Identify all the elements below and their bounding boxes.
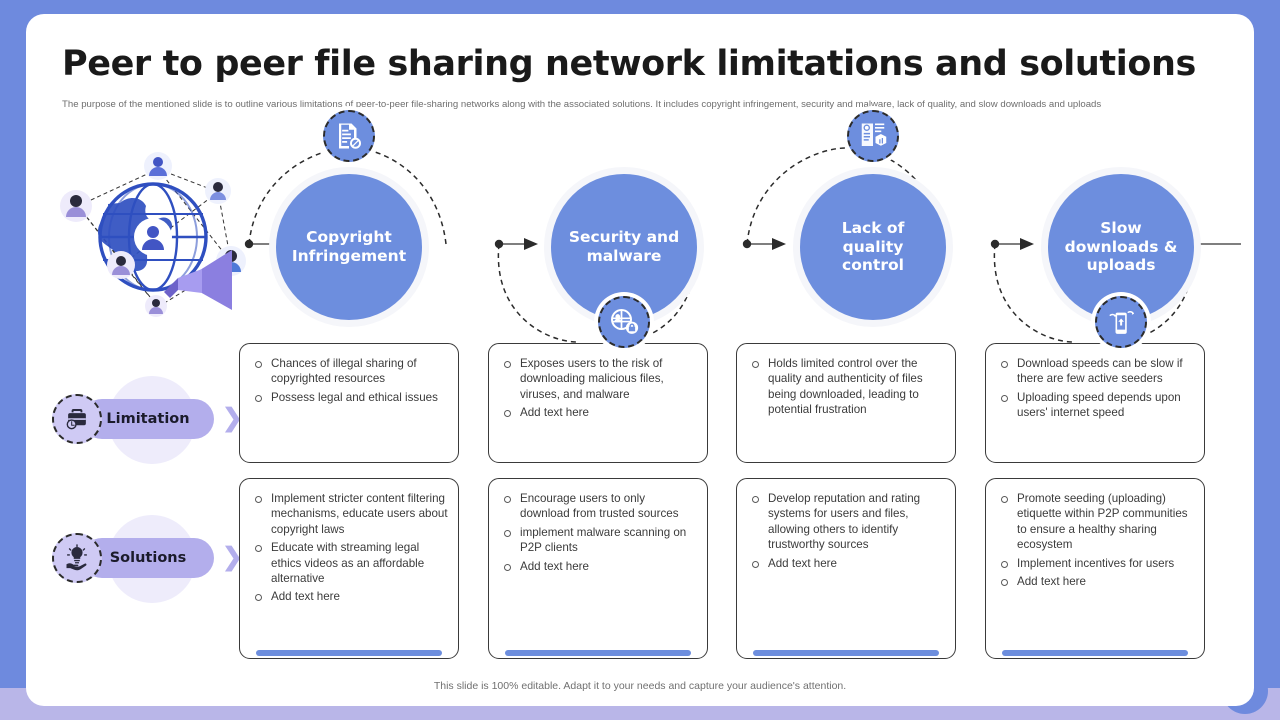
list-item: Add text here	[501, 559, 697, 574]
list-item: Add text here	[252, 589, 448, 604]
page-subtitle: The purpose of the mentioned slide is to…	[62, 98, 1237, 112]
node-lack-of-quality-control[interactable]: Lack of quality control	[800, 174, 946, 320]
solutions-card-4: Promote seeding (uploading) etiquette wi…	[985, 478, 1205, 659]
solutions-card-1: Implement stricter content filtering mec…	[239, 478, 459, 659]
list-item: Exposes users to the risk of downloading…	[501, 356, 697, 402]
list-item: implement malware scanning on P2P client…	[501, 525, 697, 556]
limitation-card-1: Chances of illegal sharing of copyrighte…	[239, 343, 459, 463]
list-item: Possess legal and ethical issues	[252, 390, 448, 405]
list-item: Add text here	[998, 574, 1194, 589]
card-accent-bar	[1002, 650, 1188, 656]
limitation-card-2: Exposes users to the risk of downloading…	[488, 343, 708, 463]
list-item: Educate with streaming legal ethics vide…	[252, 540, 448, 586]
node-copyright-infringement[interactable]: Copyright Infringement	[276, 174, 422, 320]
list-item: Holds limited control over the quality a…	[749, 356, 945, 418]
node-label: Security and malware	[551, 228, 697, 266]
limitation-card-4: Download speeds can be slow if there are…	[985, 343, 1205, 463]
limitation-card-3: Holds limited control over the quality a…	[736, 343, 956, 463]
row-label-text: Solutions	[110, 550, 187, 566]
document-blocked-icon	[323, 110, 375, 162]
document-search-box-icon	[847, 110, 899, 162]
bullet-list: Develop reputation and rating systems fo…	[737, 479, 955, 584]
list-item: Uploading speed depends upon users' inte…	[998, 390, 1194, 421]
list-item: Add text here	[749, 556, 945, 571]
list-item: Implement incentives for users	[998, 556, 1194, 571]
footer-note: This slide is 100% editable. Adapt it to…	[26, 680, 1254, 692]
solutions-card-2: Encourage users to only download from tr…	[488, 478, 708, 659]
page-title: Peer to peer file sharing network limita…	[62, 44, 1222, 84]
bullet-list: Implement stricter content filtering mec…	[240, 479, 458, 618]
right-accent-bar	[1250, 0, 1280, 720]
node-label: Slow downloads & uploads	[1048, 219, 1194, 276]
solutions-card-3: Develop reputation and rating systems fo…	[736, 478, 956, 659]
slide-canvas: Peer to peer file sharing network limita…	[26, 14, 1254, 706]
list-item: Implement stricter content filtering mec…	[252, 491, 448, 537]
list-item: Chances of illegal sharing of copyrighte…	[252, 356, 448, 387]
card-accent-bar	[505, 650, 691, 656]
bullet-list: Encourage users to only download from tr…	[489, 479, 707, 587]
bullet-list: Download speeds can be slow if there are…	[986, 344, 1204, 434]
mobile-upload-icon	[1095, 296, 1147, 348]
bullet-list: Holds limited control over the quality a…	[737, 344, 955, 431]
list-item: Download speeds can be slow if there are…	[998, 356, 1194, 387]
card-accent-bar	[753, 650, 939, 656]
bullet-list: Promote seeding (uploading) etiquette wi…	[986, 479, 1204, 602]
list-item: Add text here	[501, 405, 697, 420]
node-label: Lack of quality control	[800, 219, 946, 276]
lightbulb-hand-icon	[52, 533, 102, 583]
briefcase-clock-icon	[52, 394, 102, 444]
list-item: Promote seeding (uploading) etiquette wi…	[998, 491, 1194, 553]
row-label-text: Limitation	[106, 411, 189, 427]
card-accent-bar	[256, 650, 442, 656]
globe-users-lock-icon	[598, 296, 650, 348]
bullet-list: Exposes users to the risk of downloading…	[489, 344, 707, 434]
bullet-list: Chances of illegal sharing of copyrighte…	[240, 344, 458, 418]
list-item: Develop reputation and rating systems fo…	[749, 491, 945, 553]
list-item: Encourage users to only download from tr…	[501, 491, 697, 522]
node-label: Copyright Infringement	[276, 228, 422, 266]
